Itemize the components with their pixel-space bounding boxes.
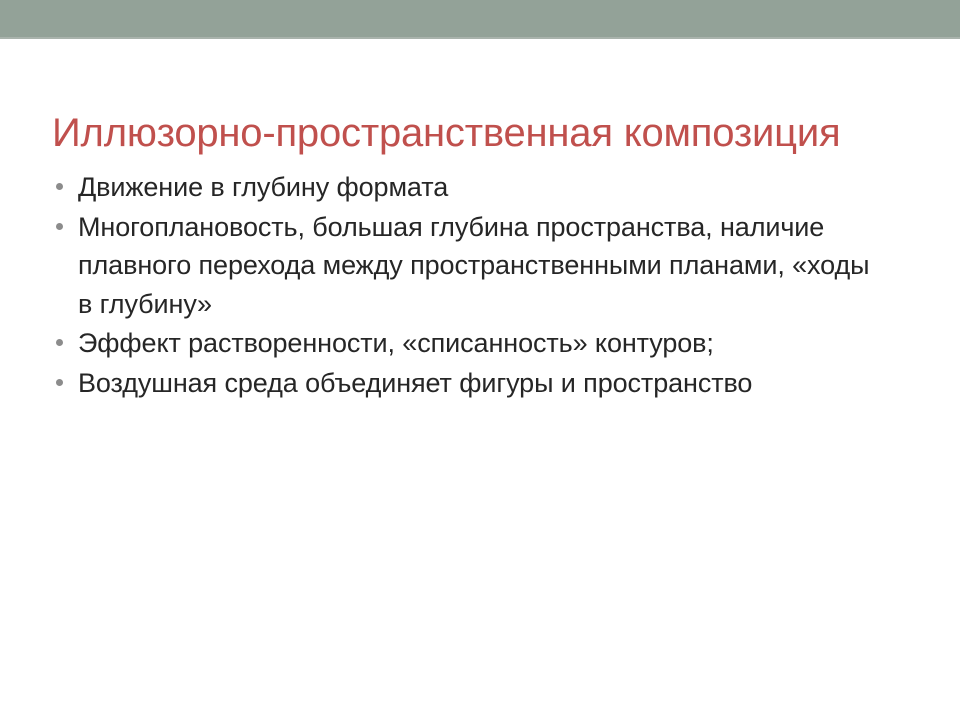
decorative-top-band-edge	[0, 37, 960, 39]
bullet-dot-icon	[56, 183, 63, 190]
page-title: Иллюзорно-пространственная композиция	[52, 110, 932, 156]
bullet-list: Движение в глубину формата Многоплановос…	[52, 168, 932, 403]
list-item: Воздушная среда объединяет фигуры и прос…	[52, 364, 932, 403]
list-item: Многоплановость, большая глубина простра…	[52, 208, 878, 324]
bullet-dot-icon	[56, 379, 63, 386]
list-item: Движение в глубину формата	[52, 168, 932, 207]
list-item-label: Многоплановость, большая глубина простра…	[78, 208, 878, 324]
list-item-label: Воздушная среда объединяет фигуры и прос…	[78, 364, 932, 403]
bullet-dot-icon	[56, 223, 63, 230]
bullet-dot-icon	[56, 339, 63, 346]
list-item: Эффект растворенности, «списанность» кон…	[52, 324, 932, 363]
decorative-top-band	[0, 0, 960, 37]
presentation-slide: Иллюзорно-пространственная композиция Дв…	[0, 0, 960, 720]
list-item-label: Движение в глубину формата	[78, 168, 932, 207]
list-item-label: Эффект растворенности, «списанность» кон…	[78, 324, 932, 363]
